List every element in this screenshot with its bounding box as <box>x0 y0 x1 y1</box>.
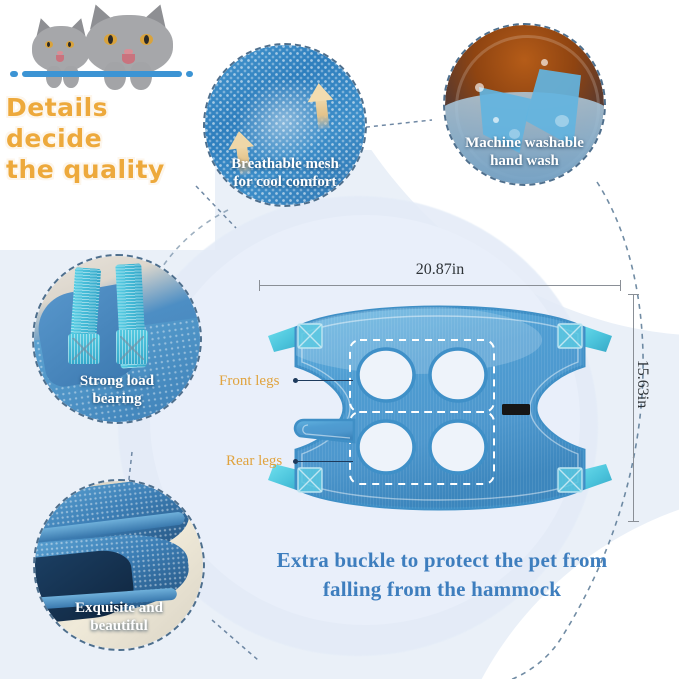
cat-mouth <box>56 55 64 62</box>
cat-ledge-bar <box>22 71 182 77</box>
stitch-patch-bottom-left <box>298 468 322 492</box>
height-dimension-cap-bottom <box>628 521 639 522</box>
water-bubble <box>555 115 569 127</box>
tagline-line-2: falling from the hammock <box>212 575 672 604</box>
headline-line-1: Details decide <box>6 92 201 154</box>
caption-line-1: Breathable mesh <box>213 155 357 173</box>
feature-exquisite-and-beautiful[interactable]: Exquisite and beautiful <box>33 479 205 651</box>
tagline-line-1: Extra buckle to protect the pet from <box>212 546 672 575</box>
front-legs-label: Front legs <box>219 373 279 390</box>
leg-hole-front-right <box>430 349 486 401</box>
stitch-patch-top-right <box>558 324 582 348</box>
rear-legs-label: Rear legs <box>226 453 282 470</box>
leg-hole-front-left <box>358 349 414 401</box>
caption-line-1: Machine washable <box>453 134 596 152</box>
velcro-patch <box>502 404 530 415</box>
cat-mouth <box>122 54 135 64</box>
caption-line-2: bearing <box>42 390 192 408</box>
infographic-canvas: Details decide the quality Breathable me… <box>0 0 679 679</box>
stitch-cross-icon <box>120 336 144 360</box>
caption-line-2: beautiful <box>43 617 195 635</box>
height-dimension-label: 15.63in <box>633 360 651 408</box>
stitch-cross-icon <box>72 338 96 360</box>
front-legs-leader-line <box>298 380 353 381</box>
rear-legs-leader-line <box>298 461 353 462</box>
feature-caption: Exquisite and beautiful <box>35 599 203 635</box>
cat-ledge-dash-right <box>186 71 193 77</box>
cat-pupil-right <box>68 42 71 47</box>
cat-paw <box>46 66 62 88</box>
water-bubble <box>541 59 548 66</box>
width-dimension-line <box>259 285 621 286</box>
water-bubble <box>493 117 499 123</box>
product-illustration <box>262 292 618 524</box>
cat-pupil-left <box>108 35 113 44</box>
feature-machine-washable[interactable]: Machine washable hand wash <box>443 23 606 186</box>
width-dimension-label: 20.87in <box>259 261 621 279</box>
stitch-patch-bottom-right <box>558 468 582 492</box>
leg-hole-rear-left <box>358 421 414 473</box>
bottom-tagline: Extra buckle to protect the pet from fal… <box>212 546 672 604</box>
feature-caption: Machine washable hand wash <box>445 134 604 170</box>
feature-caption: Breathable mesh for cool comfort <box>205 155 365 191</box>
width-dimension-cap-left <box>259 280 260 291</box>
caption-line-1: Strong load <box>42 372 192 390</box>
feature-strong-load-bearing[interactable]: Strong load bearing <box>32 254 202 424</box>
headline-line-2: the quality <box>6 154 201 185</box>
water-bubble <box>475 83 484 92</box>
handle-loop <box>295 420 354 442</box>
airflow-arrow-icon <box>306 82 337 130</box>
caption-line-2: hand wash <box>453 152 596 170</box>
caption-line-1: Exquisite and <box>43 599 195 617</box>
feature-breathable-mesh[interactable]: Breathable mesh for cool comfort <box>203 43 367 207</box>
stitch-patch-top-left <box>298 324 322 348</box>
cat-ledge-dash-left <box>10 71 18 77</box>
caption-line-2: for cool comfort <box>213 173 357 191</box>
page-title: Details decide the quality <box>6 92 201 185</box>
cat-pupil-left <box>47 42 50 47</box>
width-dimension-cap-right <box>620 280 621 291</box>
feature-caption: Strong load bearing <box>34 372 200 408</box>
leg-hole-rear-right <box>430 421 486 473</box>
cat-mascots <box>8 2 193 88</box>
cat-pupil-right <box>144 35 149 44</box>
cat-paw <box>63 66 79 88</box>
height-dimension-cap-top <box>628 294 639 295</box>
cat-head <box>85 15 173 75</box>
